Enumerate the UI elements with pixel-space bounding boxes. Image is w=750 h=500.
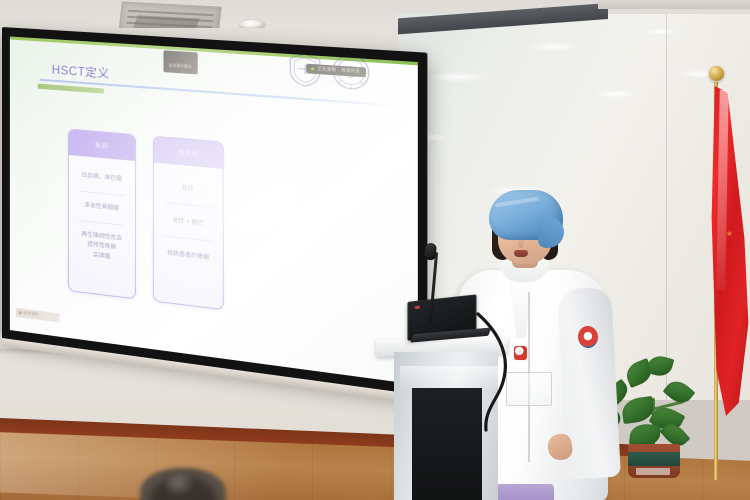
slide-footer-badge: 医学课件 <box>16 308 60 323</box>
lectern-body <box>394 352 498 500</box>
flower-pot-label <box>636 468 670 475</box>
lectern[interactable] <box>388 338 506 500</box>
lectern-front-panel <box>412 388 482 500</box>
slide-title-accent-bar <box>38 84 104 94</box>
slide-card-disease-row-2: 多发性骨髓瘤 <box>73 194 131 222</box>
presentation-room-scene: 会议演示模式 正在录制 · 屏幕共享 HSCT定 <box>0 0 750 500</box>
coat-pocket <box>506 372 552 406</box>
slide-title: HSCT定义 <box>52 61 110 81</box>
slide-recording-chip-label: 正在录制 · 屏幕共享 <box>317 67 360 75</box>
slide-card-conditioning-row-2: 化疗 + 放疗 <box>158 205 218 237</box>
laptop-logo-icon <box>415 306 420 310</box>
projection-screen[interactable]: 会议演示模式 正在录制 · 屏幕共享 HSCT定 <box>10 36 418 384</box>
slide-footer-badge-label: 医学课件 <box>24 311 39 318</box>
slide-card-conditioning-row-1: 化疗 <box>158 172 218 204</box>
slide-card-conditioning-row-3: 祛除患者的骨髓 <box>158 238 218 271</box>
glass-wall-top-trim-right <box>598 0 750 9</box>
slide-card-group: 疾病 白血病、淋巴瘤 多发性骨髓瘤 再生障碍性贫血 遗传性疾病 实体瘤 预处理 <box>68 129 224 311</box>
recording-dot-icon <box>311 67 314 70</box>
presentation-laptop[interactable] <box>408 298 484 346</box>
projection-screen-frame: 会议演示模式 正在录制 · 屏幕共享 HSCT定 <box>2 27 427 397</box>
flagpole-finial-icon <box>709 66 724 81</box>
national-flag <box>700 60 750 480</box>
badge-dot-icon <box>19 311 22 314</box>
slide-top-chip-secondary: 会议演示模式 <box>163 50 197 74</box>
flower-pot-band <box>628 452 680 466</box>
slide-card-conditioning[interactable]: 预处理 化疗 化疗 + 放疗 祛除患者的骨髓 <box>153 136 224 311</box>
slide-card-disease[interactable]: 疾病 白血病、淋巴瘤 多发性骨髓瘤 再生障碍性贫血 遗传性疾病 实体瘤 <box>68 129 136 300</box>
slide-card-disease-row-1: 白血病、淋巴瘤 <box>73 165 131 193</box>
hospital-badge-icon <box>514 346 527 360</box>
mouth <box>514 250 528 257</box>
surgical-cap-fold <box>538 218 564 248</box>
slide-top-chip-secondary-label: 会议演示模式 <box>169 63 192 69</box>
